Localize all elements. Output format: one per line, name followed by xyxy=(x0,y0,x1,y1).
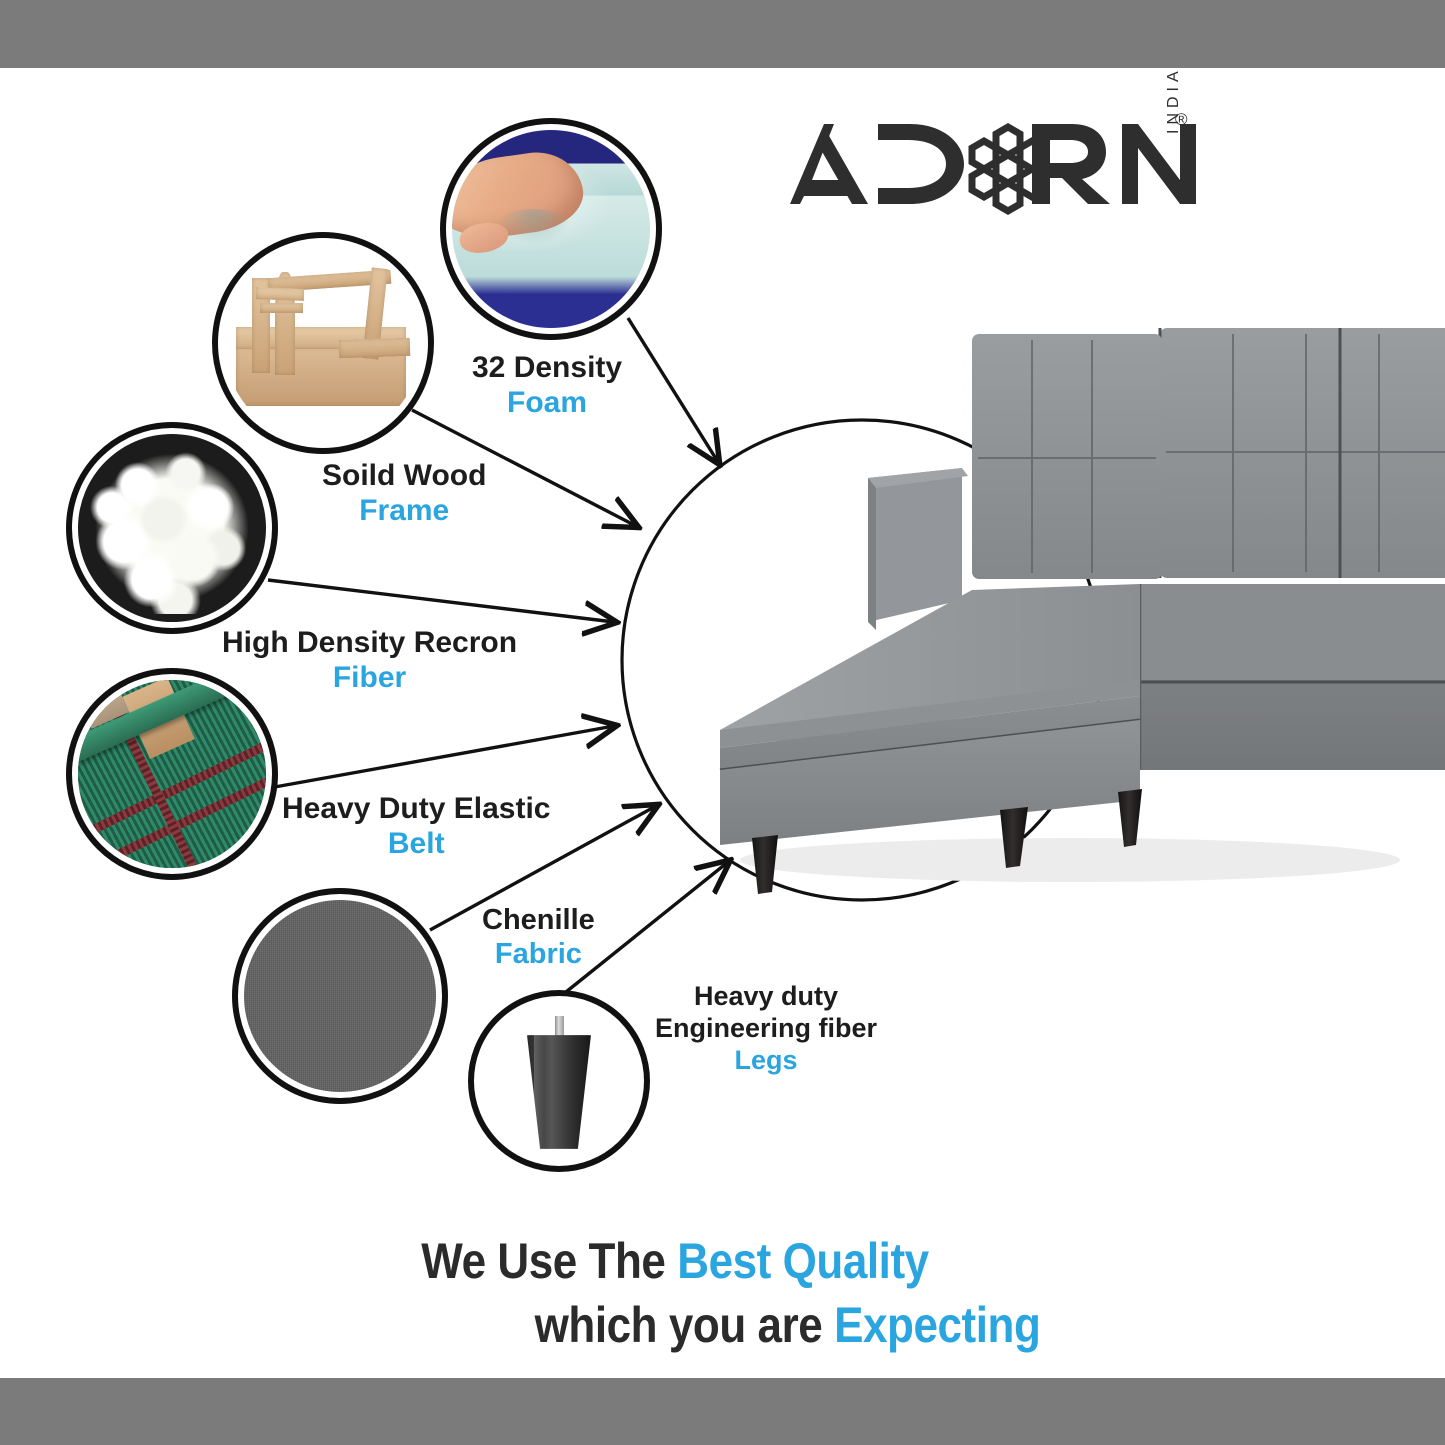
feature-accent-legs: Legs xyxy=(655,1045,877,1077)
feature-title-fiber: High Density Recron xyxy=(222,626,517,659)
feature-label-legs: Heavy duty Engineering fiber Legs xyxy=(655,981,877,1077)
feature-circle-fabric xyxy=(232,888,448,1104)
feature-title-belt: Heavy Duty Elastic xyxy=(282,792,550,825)
feature-title-foam: 32 Density xyxy=(472,351,622,384)
feature-label-wood: Soild Wood Frame xyxy=(322,458,486,529)
tagline-line1-plain: We Use The xyxy=(421,1233,677,1289)
l-shaped-sectional-sofa xyxy=(700,300,1445,900)
feature-title-legs-line1: Heavy duty xyxy=(694,981,838,1011)
adorn-india-logo: INDIA ® xyxy=(782,108,1212,220)
registered-trademark-icon: ® xyxy=(1175,110,1188,130)
chenille-swatch-icon xyxy=(244,900,436,1092)
feature-circle-belt xyxy=(66,668,278,880)
feature-title-fabric: Chenille xyxy=(482,904,595,936)
feature-title-wood: Soild Wood xyxy=(322,459,486,492)
sofa-back-left xyxy=(972,334,1162,579)
sofa-leg-icon xyxy=(480,1002,638,1160)
feature-circle-fiber xyxy=(66,422,278,634)
bottom-border-band xyxy=(0,1378,1445,1445)
feature-circle-wood xyxy=(212,232,434,454)
sofa-right-seat xyxy=(1140,584,1445,770)
foam-block-hand-icon xyxy=(452,130,650,328)
sofa-back-right xyxy=(1160,328,1445,578)
tagline-line-2: which you are Expecting xyxy=(209,1296,1366,1354)
tagline-line2-plain: which you are xyxy=(535,1297,834,1353)
feature-accent-wood: Frame xyxy=(322,493,486,528)
tagline-line2-accent: Expecting xyxy=(834,1297,1040,1353)
sofa-chaise xyxy=(720,584,1140,845)
tagline-line1-accent: Best Quality xyxy=(677,1233,928,1289)
elastic-webbing-icon xyxy=(78,680,266,868)
recron-fiber-icon xyxy=(78,434,266,622)
feature-circle-foam xyxy=(440,118,662,340)
feature-accent-fabric: Fabric xyxy=(482,937,595,971)
top-border-band xyxy=(0,0,1445,68)
feature-label-fiber: High Density Recron Fiber xyxy=(222,625,517,696)
feature-accent-belt: Belt xyxy=(282,826,550,861)
tagline-line-1: We Use The Best Quality xyxy=(0,1232,1353,1290)
tagline: We Use The Best Quality which you are Ex… xyxy=(0,1232,1445,1354)
feature-label-fabric: Chenille Fabric xyxy=(482,903,595,971)
feature-title-legs-line2: Engineering fiber xyxy=(655,1013,877,1043)
feature-label-foam: 32 Density Foam xyxy=(472,350,622,421)
hexagon-cluster-icon xyxy=(972,127,1044,211)
feature-label-belt: Heavy Duty Elastic Belt xyxy=(282,791,550,862)
feature-circle-legs xyxy=(468,990,650,1172)
wood-frame-icon xyxy=(224,244,422,442)
feature-accent-fiber: Fiber xyxy=(222,660,517,695)
feature-accent-foam: Foam xyxy=(472,385,622,420)
